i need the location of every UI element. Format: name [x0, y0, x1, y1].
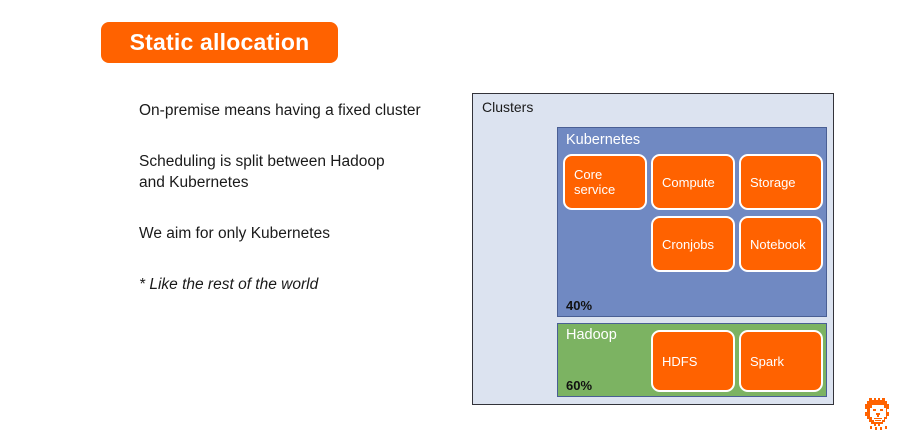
bullet-line: We aim for only Kubernetes — [139, 223, 449, 244]
tile-label: Coreservice — [574, 167, 615, 197]
tile-label: Storage — [750, 175, 796, 190]
bullet-line: Scheduling is split between Hadoop — [139, 151, 449, 172]
kubernetes-label: Kubernetes — [566, 132, 640, 148]
bullet-item-footnote: * Like the rest of the world — [139, 274, 449, 295]
bullet-item: Scheduling is split between Hadoop and K… — [139, 151, 449, 193]
bullet-list: On-premise means having a fixed cluster … — [139, 100, 449, 295]
tile-compute[interactable]: Compute — [651, 154, 735, 210]
bullet-line: * Like the rest of the world — [139, 274, 449, 295]
tile-label: Spark — [750, 354, 784, 369]
page-title: Static allocation — [130, 31, 310, 54]
tile-core-service[interactable]: Coreservice — [563, 154, 647, 210]
clusters-diagram: Clusters Kubernetes Coreservice Compute … — [472, 93, 834, 405]
tile-label: Notebook — [750, 237, 806, 252]
tile-label: HDFS — [662, 354, 697, 369]
bullet-line: and Kubernetes — [139, 172, 449, 193]
bullet-item: On-premise means having a fixed cluster — [139, 100, 449, 121]
lion-logo — [862, 396, 894, 430]
bullet-item: We aim for only Kubernetes — [139, 223, 449, 244]
tile-notebook[interactable]: Notebook — [739, 216, 823, 272]
slide-title-pill: Static allocation — [101, 22, 338, 63]
hadoop-percentage: 60% — [566, 378, 592, 393]
hadoop-label: Hadoop — [566, 327, 617, 343]
tile-storage[interactable]: Storage — [739, 154, 823, 210]
kubernetes-panel: Kubernetes Coreservice Compute Storage C… — [557, 127, 827, 317]
tile-label: Compute — [662, 175, 715, 190]
hadoop-panel: Hadoop HDFS Spark 60% — [557, 323, 827, 397]
tile-spark[interactable]: Spark — [739, 330, 823, 392]
bullet-line: On-premise means having a fixed cluster — [139, 100, 449, 121]
clusters-label: Clusters — [482, 99, 533, 115]
tile-cronjobs[interactable]: Cronjobs — [651, 216, 735, 272]
tile-label: Cronjobs — [662, 237, 714, 252]
kubernetes-percentage: 40% — [566, 298, 592, 313]
tile-hdfs[interactable]: HDFS — [651, 330, 735, 392]
